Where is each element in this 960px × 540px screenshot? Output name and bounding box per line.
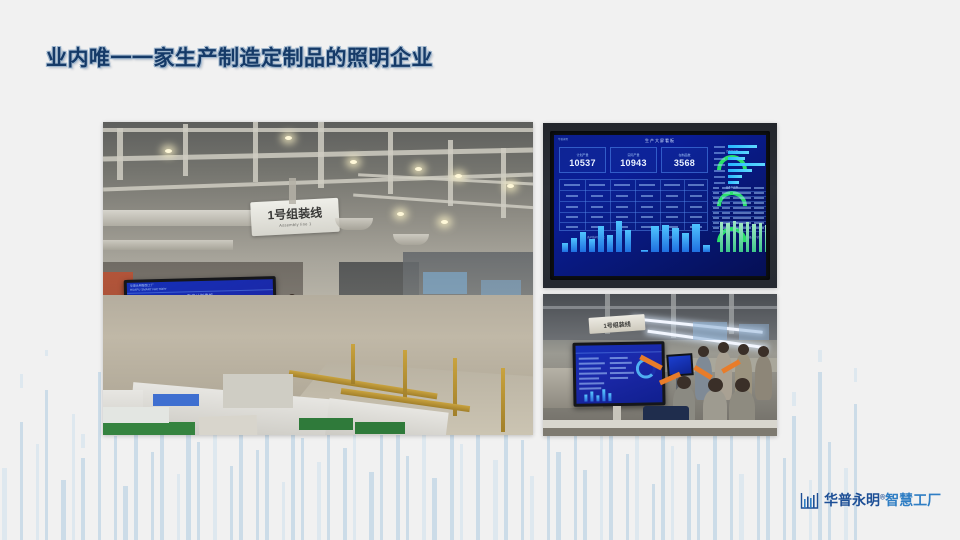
workers-assembly-line-photo: 1号组装线 [543,294,777,436]
ceiling-light [165,149,172,153]
decor-bar [493,460,498,540]
foreground-bench [543,428,777,436]
dashboard-data-grid [559,179,708,231]
hbar-category-label [714,170,725,172]
decor-bar [114,436,117,540]
hbar-bar [728,151,749,154]
light-housing [335,218,373,230]
kpi-value: 10537 [569,158,596,168]
table-cell [713,192,719,194]
page-title: 业内唯一一家生产制造定制品的照明企业 [46,42,433,72]
table-cell [754,212,764,214]
dashboard-title: 生产大屏看板 [554,138,766,144]
bracket-m-logo-icon [800,491,819,510]
decor-bar [151,452,154,540]
decor-bar [652,484,655,540]
decor-bar [123,486,128,540]
worker-head [735,378,750,392]
chart-bar [720,222,723,252]
table-cell [722,207,730,209]
decor-bar [230,466,233,540]
decor-bar [809,480,812,540]
line-dashboard-monitor [572,341,665,407]
chart-bar [765,225,766,252]
table-cell [733,187,751,189]
decor-bar [2,468,7,540]
kpi-label: 在制品数 [678,153,690,157]
storage-bin [103,407,169,423]
decor-bar [282,482,285,540]
kpi-value: 3568 [674,158,695,168]
chart-bar [726,223,729,252]
hbar-bar [728,157,745,160]
hbar-bar [728,145,757,148]
ceiling-light [415,167,422,171]
worker-head [677,376,691,389]
light-housing [393,234,429,245]
chart-bar [571,238,577,252]
overhead-conveyor [103,210,253,226]
ceiling-column [117,128,123,180]
ceiling-light [455,174,462,178]
production-dashboard-screen-photo: 华普永明 生产大屏看板 计划产量 10537 实际产量 10943 在制品数 3… [543,123,777,288]
table-cell [722,202,730,204]
cardboard-box [199,415,258,435]
decor-bar [600,428,603,540]
ceiling-light [397,212,404,216]
overhead-conveyor [103,240,233,250]
table-cell [713,217,719,219]
ceiling-column [388,132,393,194]
dashboard-screen: 华普永明 生产大屏看板 计划产量 10537 实际产量 10943 在制品数 3… [554,135,766,276]
storage-bin [299,418,353,430]
screen-logo: 华普永明智慧工厂 HUAPU SMART FACTORY [130,284,167,292]
worker-head [708,378,723,392]
ceiling-column [183,124,188,176]
table-cell [713,222,719,224]
hbar-category-label [714,176,725,178]
hbar-bar [728,169,752,172]
table-cell [754,202,764,204]
hbar-category-label [714,152,725,154]
table-cell [733,207,751,209]
decor-bar [583,470,587,540]
chart-bar [589,239,595,252]
hbar-category-label [714,182,725,184]
decor-bar [556,452,561,540]
ceiling-column [318,122,324,188]
decor-bar [854,404,857,540]
table-cell [713,212,719,214]
screen-bezel: 华普永明 生产大屏看板 计划产量 10537 实际产量 10943 在制品数 3… [550,131,770,280]
kpi-value: 10943 [620,158,647,168]
decor-bar [81,458,85,540]
hbar-category-label [714,158,725,160]
decor-bar [422,430,426,540]
table-cell [754,192,764,194]
decor-bar [530,476,534,540]
decor-bar [317,462,321,540]
decor-bar-segment [792,392,796,406]
chart-bar [598,226,604,252]
chart-bar [625,230,631,252]
decor-bar-segment [854,368,857,382]
decor-bar [36,444,39,540]
chart-bar [662,225,669,252]
table-cell [713,202,719,204]
table-cell [733,202,751,204]
storage-bin [153,394,199,406]
worker-figure [755,356,772,400]
chart-bar [692,224,699,252]
table-cell [713,187,719,189]
ceiling-light [441,220,448,224]
chart-bar [562,243,568,252]
worker-head [738,344,749,355]
worker-head [758,346,769,357]
hbar-chart-title: 各车间产出排名 [759,138,766,142]
decor-bar [256,450,259,540]
chart-bar [746,222,749,252]
background-window [423,272,467,294]
chart-bar [759,223,762,252]
worker-head [718,342,729,353]
ceiling-column [448,140,453,206]
background-window [693,322,727,340]
decor-bar [635,420,639,540]
decor-bar-segment [818,350,822,362]
decor-bar [406,456,409,540]
brand-subtitle: 智慧工厂 [885,492,941,508]
decor-bar [626,454,629,540]
table-cell [733,217,751,219]
storage-bin [355,422,405,434]
decor-bar [739,474,744,540]
ceiling-column [671,294,676,338]
table-cell [713,207,719,209]
decor-bar [301,438,304,540]
screen-header-bar [576,344,662,353]
table-cell [722,192,730,194]
chart-bar [682,233,689,252]
decor-bar [213,428,217,540]
kpi-label: 计划产量 [576,153,588,157]
sign-pole [289,178,296,204]
chart-bar [703,245,710,252]
table-cell [722,187,730,189]
decor-bar [177,474,180,540]
decor-bar [72,414,75,540]
vbar-chart-title: 不良品统计 [639,235,699,239]
table-cell [754,187,764,189]
decor-bar [460,444,463,540]
rail-post [501,368,505,432]
table-cell [754,217,764,219]
safety-rail [543,420,777,428]
footer-brand-logo: 华普永明®智慧工厂 [800,490,941,510]
chart-bar [607,235,613,252]
table-cell [713,227,719,229]
assembly-line-sign-secondary: Assembly line 1 [279,221,312,228]
cardboard-box [223,374,293,408]
decor-bar [521,440,524,540]
slide-canvas: 业内唯一一家生产制造定制品的照明企业 1号组装线 Assembly line 1 [0,0,960,540]
table-cell [722,217,730,219]
decor-bar [792,416,796,540]
table-cell [754,197,764,199]
hbar-category-label [714,146,725,148]
background-window [739,324,769,340]
chart-bar [641,250,648,252]
hbar-bar [728,175,742,178]
decor-bar [197,442,200,540]
decor-bar [20,422,23,540]
storage-bin [103,422,195,435]
rail-post [351,344,355,384]
decor-bar [432,478,437,540]
decor-bar [380,422,383,540]
worker-head [698,346,709,357]
decor-bar [713,436,717,540]
table-cell [733,192,751,194]
table-cell [722,212,730,214]
decor-bar [757,426,760,540]
decor-bar-segment [45,350,48,356]
hbar-bar [728,181,739,184]
chart-bar [580,232,586,252]
decor-bar [61,480,66,540]
ceiling-column [253,122,258,182]
chart-bar [739,223,742,252]
assembly-line-sign-primary: 1号组装线 [267,206,322,221]
factory-assembly-line-photo: 1号组装线 Assembly line 1 华普永明智慧工厂 HUAPU SMA… [103,122,533,435]
ceiling-light [350,160,357,164]
decor-bar-segment [20,374,23,388]
kpi-label: 实际产量 [627,153,639,157]
brand-name: 华普永明 [824,492,880,508]
decor-bar [98,372,101,540]
ceiling-beam [543,306,777,309]
decor-bar [818,372,822,540]
tablet-screen [668,355,691,374]
rail-post [403,350,407,400]
hbar-bar [728,163,765,166]
chart-bar [752,224,755,252]
chart-bar [616,221,622,252]
table-cell [733,212,751,214]
decor-bar [45,390,48,540]
decor-bar [369,472,374,540]
chart-bar [651,226,658,252]
kpi-card: 实际产量 10943 [610,147,657,173]
hbar-category-label [714,164,725,166]
chart-bar [733,221,736,252]
table-cell [722,197,730,199]
decor-bar [697,464,700,540]
chart-bar [672,228,679,252]
ceiling-light [285,136,292,140]
decor-bar [783,458,786,540]
ceiling-light [507,184,514,188]
decor-bar [343,448,347,540]
table-cell [754,207,764,209]
decor-bar-segment [81,434,85,448]
table-cell [713,197,719,199]
assembly-line-sign-label: 1号组装线 [603,319,631,330]
decor-bar [671,446,674,540]
footer-brand-text: 华普永明®智慧工厂 [824,490,941,510]
kpi-card: 计划产量 10537 [559,147,606,173]
kpi-card: 在制品数 3568 [661,147,708,173]
monitor-screen [576,344,663,403]
table-cell [733,197,751,199]
